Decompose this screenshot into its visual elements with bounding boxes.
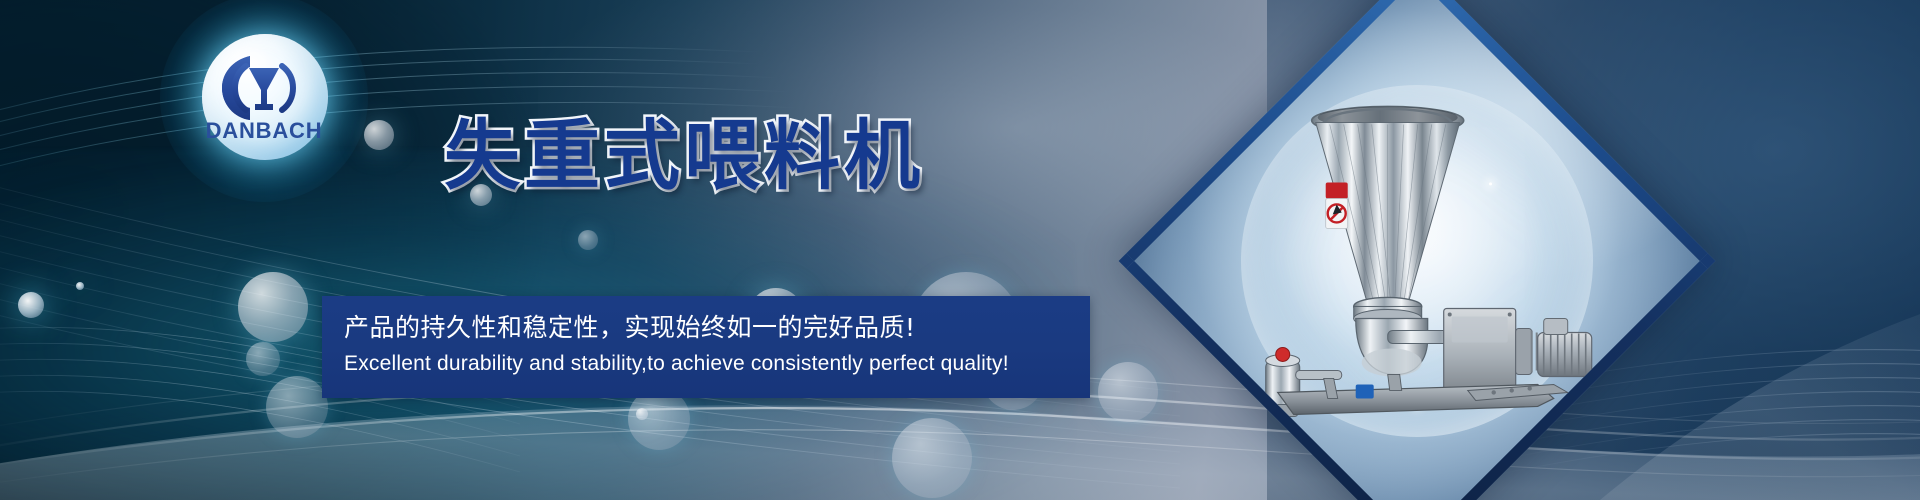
bokeh-bubble [364,120,394,150]
page-title: 失重式喂料机 [444,118,924,194]
product-showcase [1098,0,1714,500]
subtitle-panel: 产品的持久性和稳定性，实现始终如一的完好品质! Excellent durabi… [322,296,1090,398]
bokeh-bubble [578,230,598,250]
bokeh-bubble [18,292,44,318]
danbach-funnel-emblem-icon [216,52,312,122]
subtitle-chinese: 产品的持久性和稳定性，实现始终如一的完好品质! [344,308,916,344]
bokeh-bubble [892,418,972,498]
product-banner: DANBACH 失重式喂料机 产品的持久性和稳定性，实现始终如一的完好品质! E… [0,0,1920,500]
bokeh-bubble [76,282,84,290]
bokeh-bubble [636,408,648,420]
subtitle-english: Excellent durability and stability,to ac… [344,352,1009,376]
logo-wordmark: DANBACH [184,118,344,144]
bokeh-bubble [266,376,328,438]
loss-in-weight-feeder-image [1238,92,1598,422]
danbach-logo[interactable]: DANBACH [184,18,344,178]
bokeh-bubble [238,272,308,342]
diamond-frame [1119,0,1716,500]
bokeh-bubble [246,342,280,376]
